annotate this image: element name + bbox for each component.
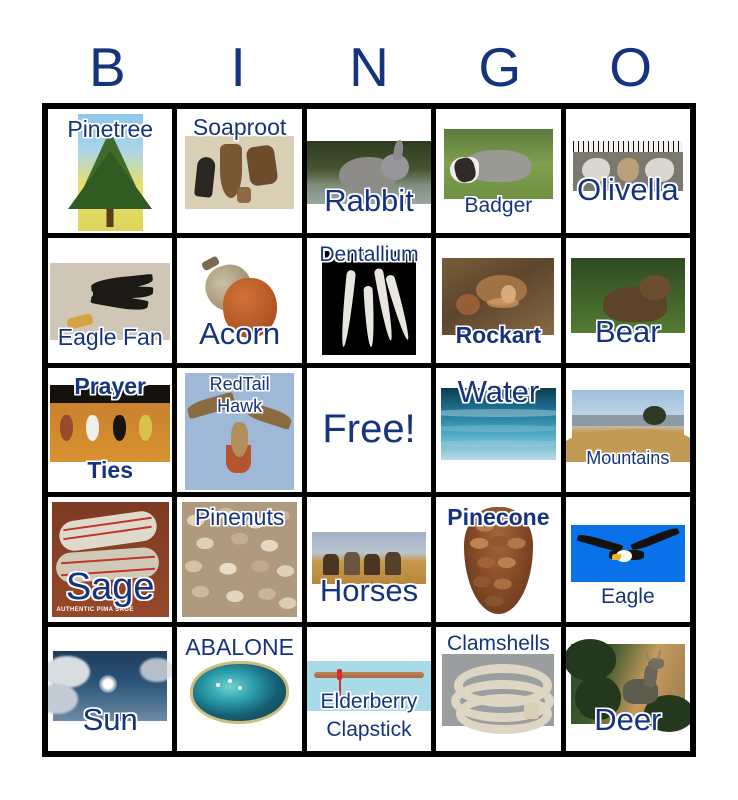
cell-label: Bear	[566, 316, 690, 349]
cell-label: Eagle Fan	[48, 325, 172, 349]
header-letter-o: O	[565, 34, 696, 100]
header-letter-b: B	[42, 34, 173, 100]
bingo-cell-deer[interactable]: Deer	[566, 627, 690, 751]
cell-label: Soaproot	[177, 115, 301, 139]
cell-label: Eagle	[566, 586, 690, 608]
soaproot-brush-image	[185, 136, 295, 208]
bingo-cell-horses[interactable]: Horses	[307, 497, 431, 621]
cell-label: Horses	[307, 575, 431, 608]
cell-label-top: RedTail	[177, 374, 301, 395]
bingo-cell-acorn[interactable]: Acorn	[177, 238, 301, 362]
cell-label: Clamshells	[436, 633, 560, 655]
cell-label: Water	[436, 376, 560, 409]
bingo-cell-clamshells[interactable]: Clamshells	[436, 627, 560, 751]
cell-label: Pinenuts	[177, 505, 301, 529]
bingo-cell-eagle[interactable]: Eagle	[566, 497, 690, 621]
header-letter-i: I	[173, 34, 304, 100]
bingo-cell-rabbit[interactable]: Rabbit	[307, 109, 431, 233]
badger-image	[444, 129, 554, 199]
cell-label: Badger	[436, 195, 560, 217]
bingo-cell-sun[interactable]: Sun	[48, 627, 172, 751]
bingo-cell-abalone[interactable]: ABALONE	[177, 627, 301, 751]
clamshell-beads-image	[442, 654, 554, 726]
cell-label: Dentallium	[307, 244, 431, 266]
cell-label: Sun	[48, 704, 172, 737]
sage-caption: AUTHENTIC PIMA SAGE	[56, 607, 133, 613]
cell-label: Olivella	[566, 174, 690, 207]
abalone-shell-image	[190, 661, 290, 723]
cell-label-bottom: Hawk	[177, 396, 301, 417]
cell-label: ABALONE	[177, 635, 301, 659]
bingo-cell-bear[interactable]: Bear	[566, 238, 690, 362]
cell-label: Pinetree	[48, 117, 172, 141]
bingo-cell-pinecone[interactable]: Pinecone	[436, 497, 560, 621]
header-letter-n: N	[304, 34, 435, 100]
cell-label: Rockart	[436, 323, 560, 347]
bingo-cell-rockart[interactable]: Rockart	[436, 238, 560, 362]
bingo-cell-badger[interactable]: Badger	[436, 109, 560, 233]
bingo-cell-eagle-fan[interactable]: Eagle Fan	[48, 238, 172, 362]
cell-label: Sage	[48, 568, 172, 608]
cell-label: Deer	[566, 704, 690, 737]
cell-label-top: Elderberry	[307, 691, 431, 713]
free-space: Free!	[307, 368, 431, 492]
cell-label-bottom: Clapstick	[307, 719, 431, 741]
bingo-cell-olivella[interactable]: Olivella	[566, 109, 690, 233]
cell-label: Acorn	[177, 318, 301, 351]
bingo-cell-mountains[interactable]: Mountains	[566, 368, 690, 492]
bingo-cell-sage[interactable]: AUTHENTIC PIMA SAGE Sage	[48, 497, 172, 621]
cell-label: Mountains	[566, 449, 690, 468]
cell-label: Free!	[307, 407, 431, 452]
bingo-cell-free[interactable]: Free!	[307, 368, 431, 492]
bingo-cell-redtail-hawk[interactable]: RedTail Hawk	[177, 368, 301, 492]
dentallium-shells-image	[322, 251, 417, 356]
bingo-card: B I N G O Pinetree Soaproot	[0, 0, 738, 800]
bingo-cell-pinenuts[interactable]: Pinenuts	[177, 497, 301, 621]
bingo-grid: Pinetree Soaproot Rabbit Badger	[42, 103, 696, 757]
cell-label-bottom: Ties	[48, 458, 172, 482]
cell-label-top: Prayer	[48, 374, 172, 398]
bingo-cell-water[interactable]: Water	[436, 368, 560, 492]
bingo-cell-pinetree[interactable]: Pinetree	[48, 109, 172, 233]
cell-label: Rabbit	[307, 185, 431, 218]
header-letter-g: G	[434, 34, 565, 100]
cell-label: Pinecone	[436, 505, 560, 529]
flying-eagle-image	[571, 525, 685, 582]
bingo-cell-soaproot[interactable]: Soaproot	[177, 109, 301, 233]
bingo-header: B I N G O	[42, 34, 696, 100]
bingo-cell-elderberry-clapstick[interactable]: Elderberry Clapstick	[307, 627, 431, 751]
bingo-cell-dentallium[interactable]: Dentallium	[307, 238, 431, 362]
bingo-cell-prayer-ties[interactable]: Prayer Ties	[48, 368, 172, 492]
